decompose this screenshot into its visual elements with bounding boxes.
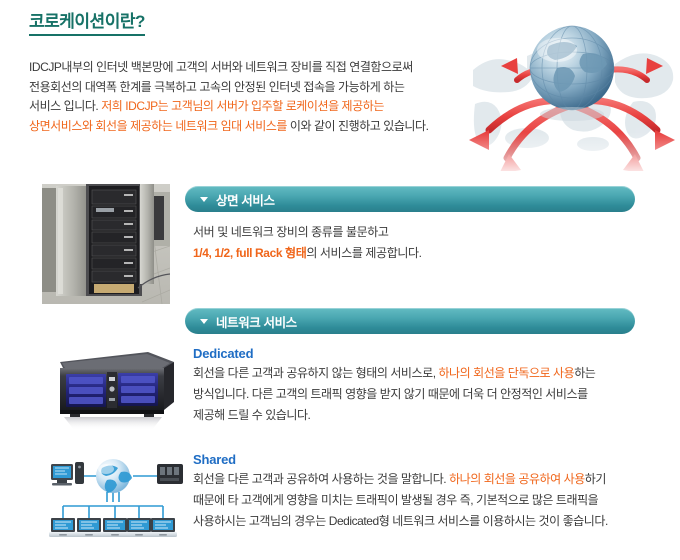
- network-topology-diagram: [45, 448, 185, 543]
- section-header-rack-service-label: 상면 서비스: [216, 190, 275, 209]
- intro-line-3: 서비스 입니다. 저희 IDCJP는 고객님의 서버가 입주할 로케이션을 제공…: [29, 97, 479, 117]
- intro-line-3-plain: 서비스 입니다.: [29, 99, 101, 113]
- section-header-network-service[interactable]: 네트워크 서비스: [185, 308, 635, 334]
- intro-line-2: 전용회선의 대역폭 한계를 극복하고 고속의 안정된 인터넷 접속을 가능하게 …: [29, 78, 479, 98]
- dedicated-line-3: 제공해 드릴 수 있습니다.: [193, 405, 653, 426]
- rack-body-line-1: 서버 및 네트워크 장비의 종류를 불문하고: [193, 222, 623, 243]
- shared-line-1: 회선을 다른 고객과 공유하여 사용하는 것을 말합니다. 하나의 회선을 공유…: [193, 469, 663, 490]
- intro-line-4: 상면서비스와 회선을 제공하는 네트워크 임대 서비스를 이와 같이 진행하고 …: [29, 117, 479, 137]
- dedicated-line-1-highlight: 하나의 회선을 단독으로 사용: [438, 366, 574, 380]
- shared-line-1-plain: 회선을 다른 고객과 공유하여 사용하는 것을 말합니다.: [193, 472, 449, 486]
- dedicated-block: Dedicated 회선을 다른 고객과 공유하지 않는 형태의 서비스로, 하…: [193, 346, 653, 426]
- rack-service-body: 서버 및 네트워크 장비의 종류를 불문하고 1/4, 1/2, full Ra…: [193, 222, 623, 264]
- rack-body-line-2-plain: 의 서비스를 제공합니다.: [306, 246, 421, 260]
- intro-line-2-text: 전용회선의 대역폭 한계를 극복하고 고속의 안정된 인터넷 접속을 가능하게 …: [29, 80, 404, 94]
- section-header-rack-service[interactable]: 상면 서비스: [185, 186, 635, 212]
- page-title: 코로케이션이란?: [29, 12, 145, 36]
- shared-heading: Shared: [193, 452, 663, 467]
- server-box-icon: [157, 464, 183, 484]
- shared-block: Shared 회선을 다른 고객과 공유하여 사용하는 것을 말합니다. 하나의…: [193, 452, 663, 532]
- shared-line-3-text: 사용하시는 고객님의 경우는 Dedicated형 네트워크 서비스를 이용하시…: [193, 514, 608, 528]
- shared-line-2-text: 때문에 타 고객에게 영향을 미치는 트래픽이 발생될 경우 즉, 기본적으로 …: [193, 493, 598, 507]
- dedicated-line-2: 방식입니다. 다른 고객의 트래픽 영향을 받지 않기 때문에 더욱 더 안정적…: [193, 384, 653, 405]
- dedicated-heading: Dedicated: [193, 346, 653, 361]
- dedicated-line-1-tail: 하는: [574, 366, 595, 380]
- dedicated-copy: 회선을 다른 고객과 공유하지 않는 형태의 서비스로, 하나의 회선을 단독으…: [193, 363, 653, 426]
- globe-with-red-arrows-icon: [465, 6, 680, 171]
- dedicated-line-3-text: 제공해 드릴 수 있습니다.: [193, 408, 310, 422]
- rack-body-line-1-text: 서버 및 네트워크 장비의 종류를 불문하고: [193, 225, 389, 239]
- server-rack-photo: [42, 184, 170, 304]
- laptop-row: [49, 518, 177, 537]
- intro-line-1: IDCJP내부의 인터넷 백본망에 고객의 서버와 네트워크 장비를 직접 연결…: [29, 58, 479, 78]
- triangle-down-icon: [200, 319, 208, 324]
- dedicated-line-1-plain: 회선을 다른 고객과 공유하지 않는 형태의 서비스로,: [193, 366, 438, 380]
- intro-line-4-plain: 이와 같이 진행하고 있습니다.: [287, 119, 429, 133]
- shared-line-1-highlight: 하나의 회선을 공유하여 사용: [449, 472, 585, 486]
- intro-line-4-highlight: 상면서비스와 회선을 제공하는 네트워크 임대 서비스를: [29, 119, 287, 133]
- intro-line-1-text: IDCJP내부의 인터넷 백본망에 고객의 서버와 네트워크 장비를 직접 연결…: [29, 60, 413, 74]
- shared-line-2: 때문에 타 고객에게 영향을 미치는 트래픽이 발생될 경우 즉, 기본적으로 …: [193, 490, 663, 511]
- intro-section: 코로케이션이란? IDCJP내부의 인터넷 백본망에 고객의 서버와 네트워크 …: [0, 0, 680, 170]
- shared-copy: 회선을 다른 고객과 공유하여 사용하는 것을 말합니다. 하나의 회선을 공유…: [193, 469, 663, 532]
- section-header-network-service-label: 네트워크 서비스: [216, 312, 297, 331]
- shared-line-3: 사용하시는 고객님의 경우는 Dedicated형 네트워크 서비스를 이용하시…: [193, 511, 663, 532]
- triangle-down-icon: [200, 197, 208, 202]
- dedicated-line-2-text: 방식입니다. 다른 고객의 트래픽 영향을 받지 않기 때문에 더욱 더 안정적…: [193, 387, 588, 401]
- rack-body-line-2-highlight: 1/4, 1/2, full Rack 형태: [193, 246, 306, 260]
- intro-paragraph: IDCJP내부의 인터넷 백본망에 고객의 서버와 네트워크 장비를 직접 연결…: [29, 58, 479, 136]
- shared-line-1-tail: 하기: [585, 472, 606, 486]
- intro-line-3-highlight: 저희 IDCJP는 고객님의 서버가 입주할 로케이션을 제공하는: [101, 99, 384, 113]
- dedicated-line-1: 회선을 다른 고객과 공유하지 않는 형태의 서비스로, 하나의 회선을 단독으…: [193, 363, 653, 384]
- rack-body-line-2: 1/4, 1/2, full Rack 형태의 서비스를 제공합니다.: [193, 243, 623, 264]
- rack-server-photo: [52, 344, 182, 432]
